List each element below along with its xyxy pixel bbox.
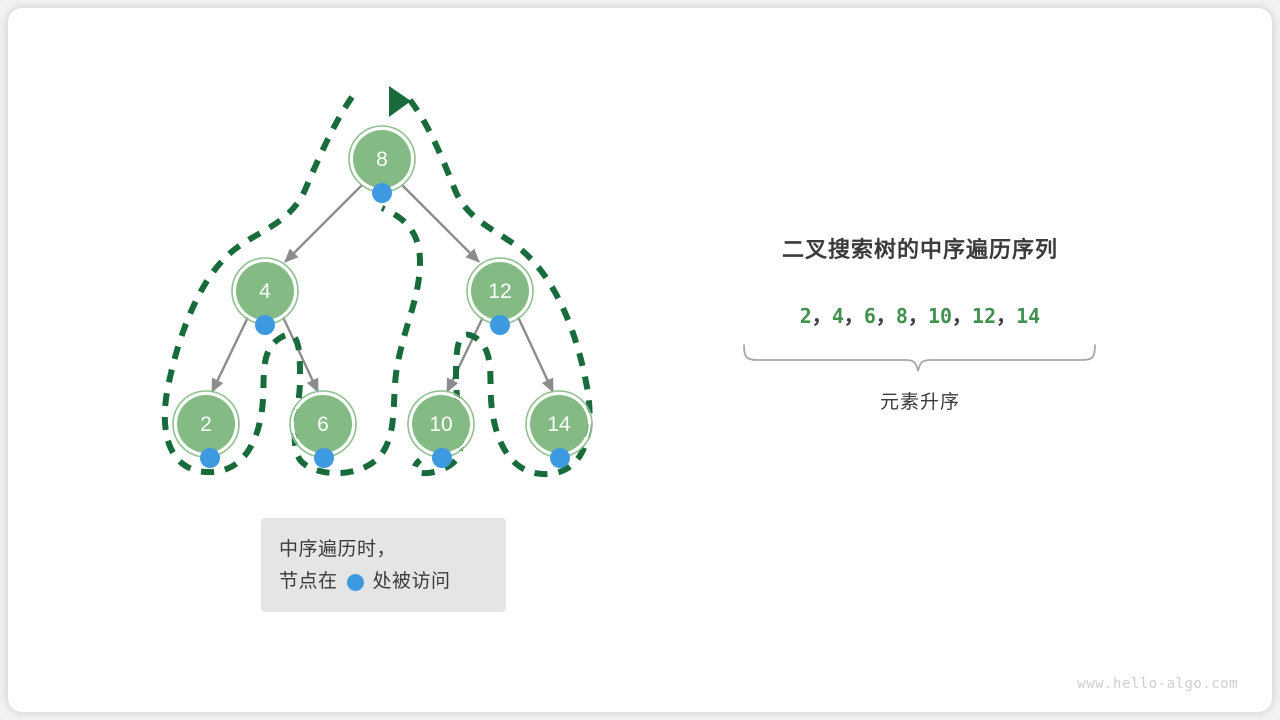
sequence-separator: ， — [908, 304, 928, 328]
legend-line-2: 节点在 处被访问 — [279, 566, 506, 598]
edge-8-12 — [402, 185, 479, 262]
tree-node-4: 4 — [232, 258, 298, 335]
figure-root: 8412261014 二叉搜索树的中序遍历序列 2，4，6，8，10，12，14… — [0, 0, 1280, 720]
sequence-value-12: 12 — [972, 304, 996, 328]
node-value-label: 4 — [259, 280, 271, 303]
legend-text-2-before: 节点在 — [279, 566, 338, 598]
sequence-separator: ， — [812, 304, 832, 328]
legend-text-2-after: 处被访问 — [373, 566, 451, 598]
sequence-values: 2，4，6，8，10，12，14 — [700, 300, 1140, 329]
visit-point-dot — [432, 448, 452, 468]
edge-12-10 — [447, 317, 483, 392]
sequence-panel: 二叉搜索树的中序遍历序列 2，4，6，8，10，12，14 元素升序 — [700, 232, 1140, 414]
sequence-separator: ， — [844, 304, 864, 328]
legend-line-1: 中序遍历时， — [279, 534, 506, 566]
node-value-label: 6 — [317, 413, 329, 436]
sequence-value-8: 8 — [896, 304, 908, 328]
node-value-label: 8 — [376, 148, 388, 171]
visit-point-dot — [200, 448, 220, 468]
node-value-label: 10 — [429, 413, 452, 436]
tree-node-12: 12 — [467, 258, 533, 335]
sequence-caption: 元素升序 — [700, 387, 1140, 414]
sequence-separator: ， — [996, 304, 1016, 328]
edge-4-2 — [212, 317, 248, 392]
tree-node-8: 8 — [349, 126, 415, 203]
sequence-value-4: 4 — [832, 304, 844, 328]
tree-nodes: 8412261014 — [173, 126, 592, 468]
visit-point-dot — [314, 448, 334, 468]
sequence-separator: ， — [952, 304, 972, 328]
node-value-label: 2 — [200, 413, 212, 436]
legend-box: 中序遍历时， 节点在 处被访问 — [261, 518, 506, 612]
visit-point-dot — [550, 448, 570, 468]
visit-point-dot — [372, 183, 392, 203]
sequence-value-2: 2 — [800, 304, 812, 328]
sequence-value-10: 10 — [928, 304, 952, 328]
visit-point-dot — [490, 315, 510, 335]
watermark: www.hello-algo.com — [1077, 676, 1238, 692]
tree-node-10: 10 — [408, 391, 474, 468]
edge-4-6 — [283, 317, 318, 392]
legend-text-1: 中序遍历时， — [279, 534, 396, 566]
traversal-start-arrow — [389, 86, 411, 117]
visit-point-dot-icon — [347, 574, 364, 591]
edge-12-14 — [518, 317, 553, 392]
node-value-label: 12 — [488, 280, 511, 303]
edge-8-4 — [285, 185, 362, 262]
sequence-value-6: 6 — [864, 304, 876, 328]
sequence-value-14: 14 — [1016, 304, 1040, 328]
sequence-title: 二叉搜索树的中序遍历序列 — [700, 232, 1140, 264]
tree-node-2: 2 — [173, 391, 239, 468]
sequence-separator: ， — [876, 304, 896, 328]
visit-point-dot — [255, 315, 275, 335]
node-value-label: 14 — [547, 413, 571, 436]
